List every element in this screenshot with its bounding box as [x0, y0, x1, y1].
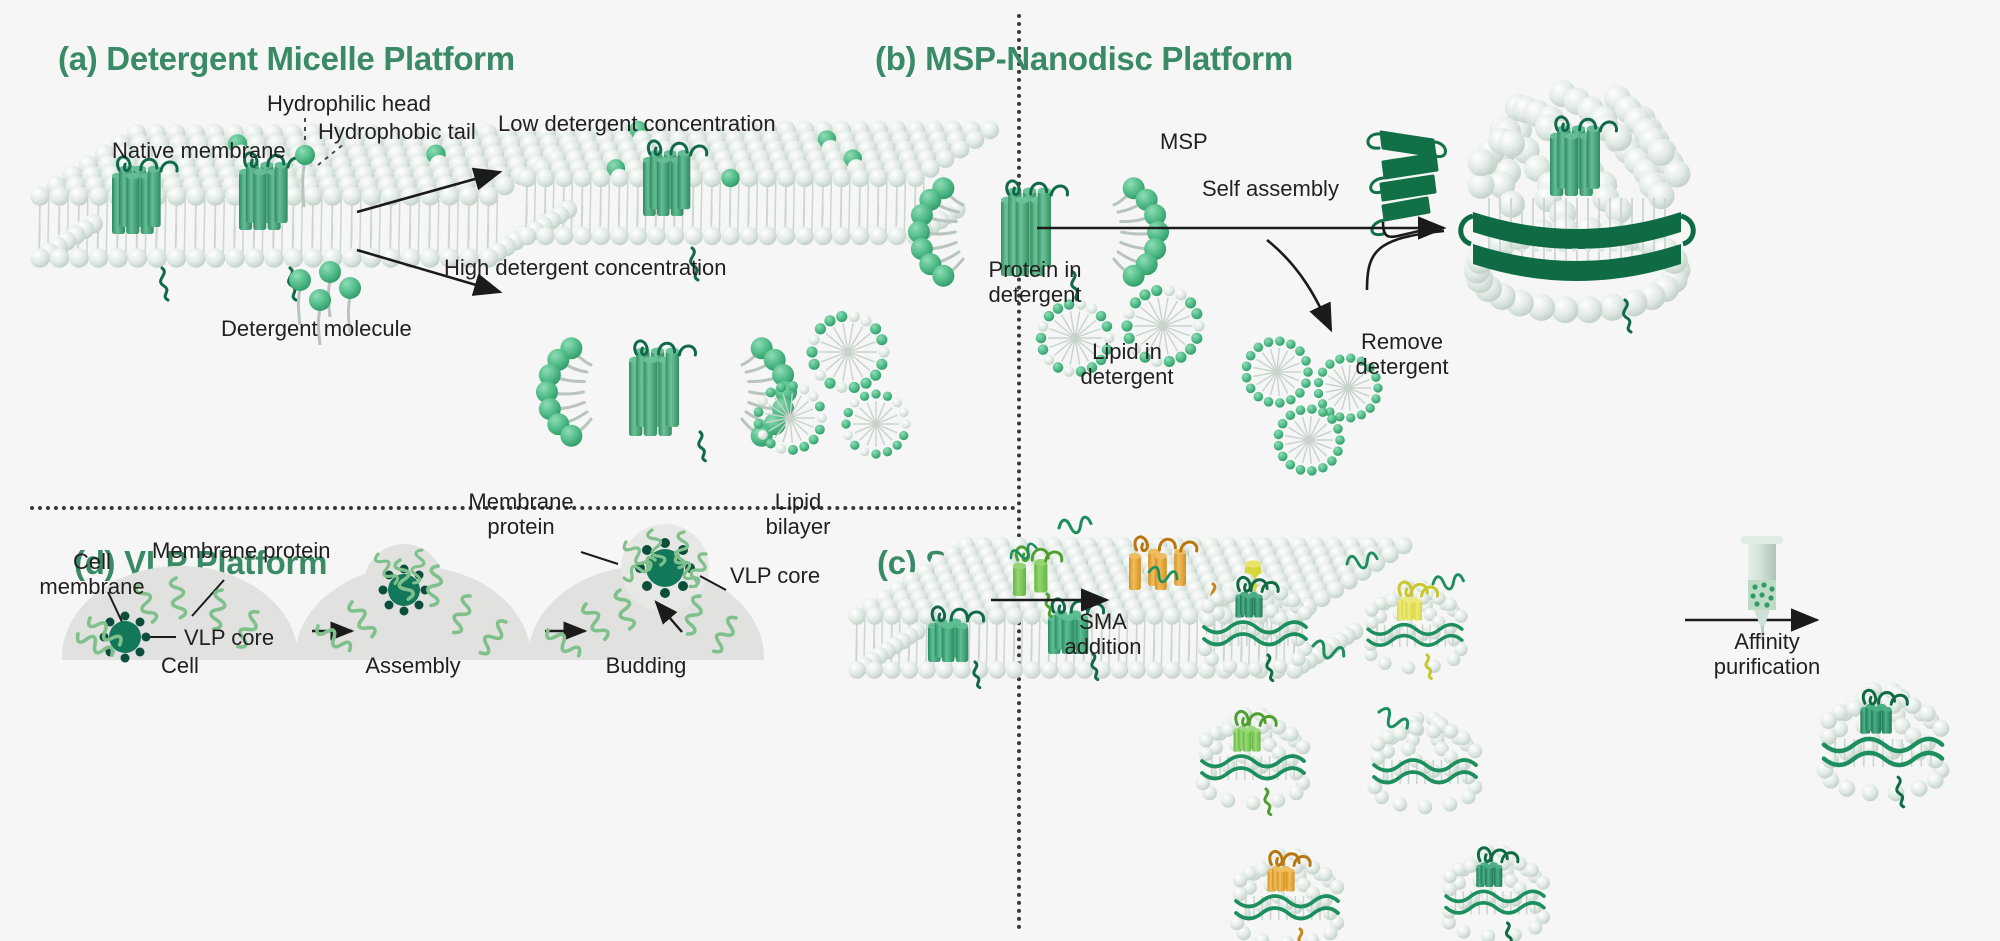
remove-detergent-arrow [1267, 240, 1331, 330]
label-msp: MSP [1160, 130, 1208, 155]
label-affinity-purification: Affinity purification [1667, 630, 1867, 679]
panel-b: (b) MSP-Nanodisc Platform [1017, 0, 2000, 506]
msp-protein [1368, 132, 1446, 235]
label-stage-assembly: Assembly [353, 654, 473, 679]
label-hydrophilic-head: Hydrophilic head [267, 92, 431, 117]
label-lipid-in-detergent: Lipid in detergent [1007, 340, 1247, 389]
label-high-detergent-concentration: High detergent concentration [444, 256, 727, 281]
label-protein-in-detergent: Protein in detergent [905, 258, 1165, 307]
panel-c: (c) SMA-Nanodisc Platform [1017, 506, 2000, 941]
label-lipid-bilayer: Lipid bilayer [728, 490, 868, 539]
panel-d: (d) VLP Platform [0, 506, 1017, 941]
cell-dome-3 [528, 566, 764, 658]
msp-branch-curve [1383, 222, 1444, 237]
label-low-detergent-concentration: Low detergent concentration [498, 112, 776, 137]
figure-canvas: (a) Detergent Micelle Platform [0, 0, 2000, 941]
label-stage-budding: Budding [586, 654, 706, 679]
label-stage-cell: Cell [120, 654, 240, 679]
label-sma-addition: SMA addition [1023, 610, 1183, 659]
cell-dome-2 [295, 566, 531, 658]
vlp-envelope-halo [621, 524, 709, 612]
label-vlp-core-1: VLP core [184, 626, 274, 651]
panel-a: (a) Detergent Micelle Platform [0, 0, 1017, 506]
affinity-column-icon [1741, 536, 1783, 640]
bud-dome [364, 544, 444, 624]
vlp-core-2 [379, 565, 430, 616]
label-native-membrane: Native membrane [112, 139, 286, 164]
label-hydrophobic-tail: Hydrophobic tail [318, 120, 476, 145]
lipid-branch-curve [1367, 231, 1444, 290]
label-membrane-protein-1: Membrane protein [152, 539, 331, 564]
label-remove-detergent: Remove detergent [1302, 330, 1502, 379]
detergent-legend-molecule [295, 145, 315, 207]
label-vlp-core-2: VLP core [730, 564, 820, 589]
label-cell-membrane: Cell membrane [20, 550, 164, 599]
label-self-assembly: Self assembly [1202, 177, 1339, 202]
panel-b-title: (b) MSP-Nanodisc Platform [875, 40, 1293, 78]
label-membrane-protein-2: Membrane protein [426, 490, 616, 539]
panel-c-title: (c) SMA-Nanodisc Platform [877, 544, 1295, 582]
label-detergent-molecule: Detergent molecule [221, 317, 412, 342]
vlp-core-3 [635, 538, 695, 598]
panel-a-title: (a) Detergent Micelle Platform [58, 40, 515, 78]
